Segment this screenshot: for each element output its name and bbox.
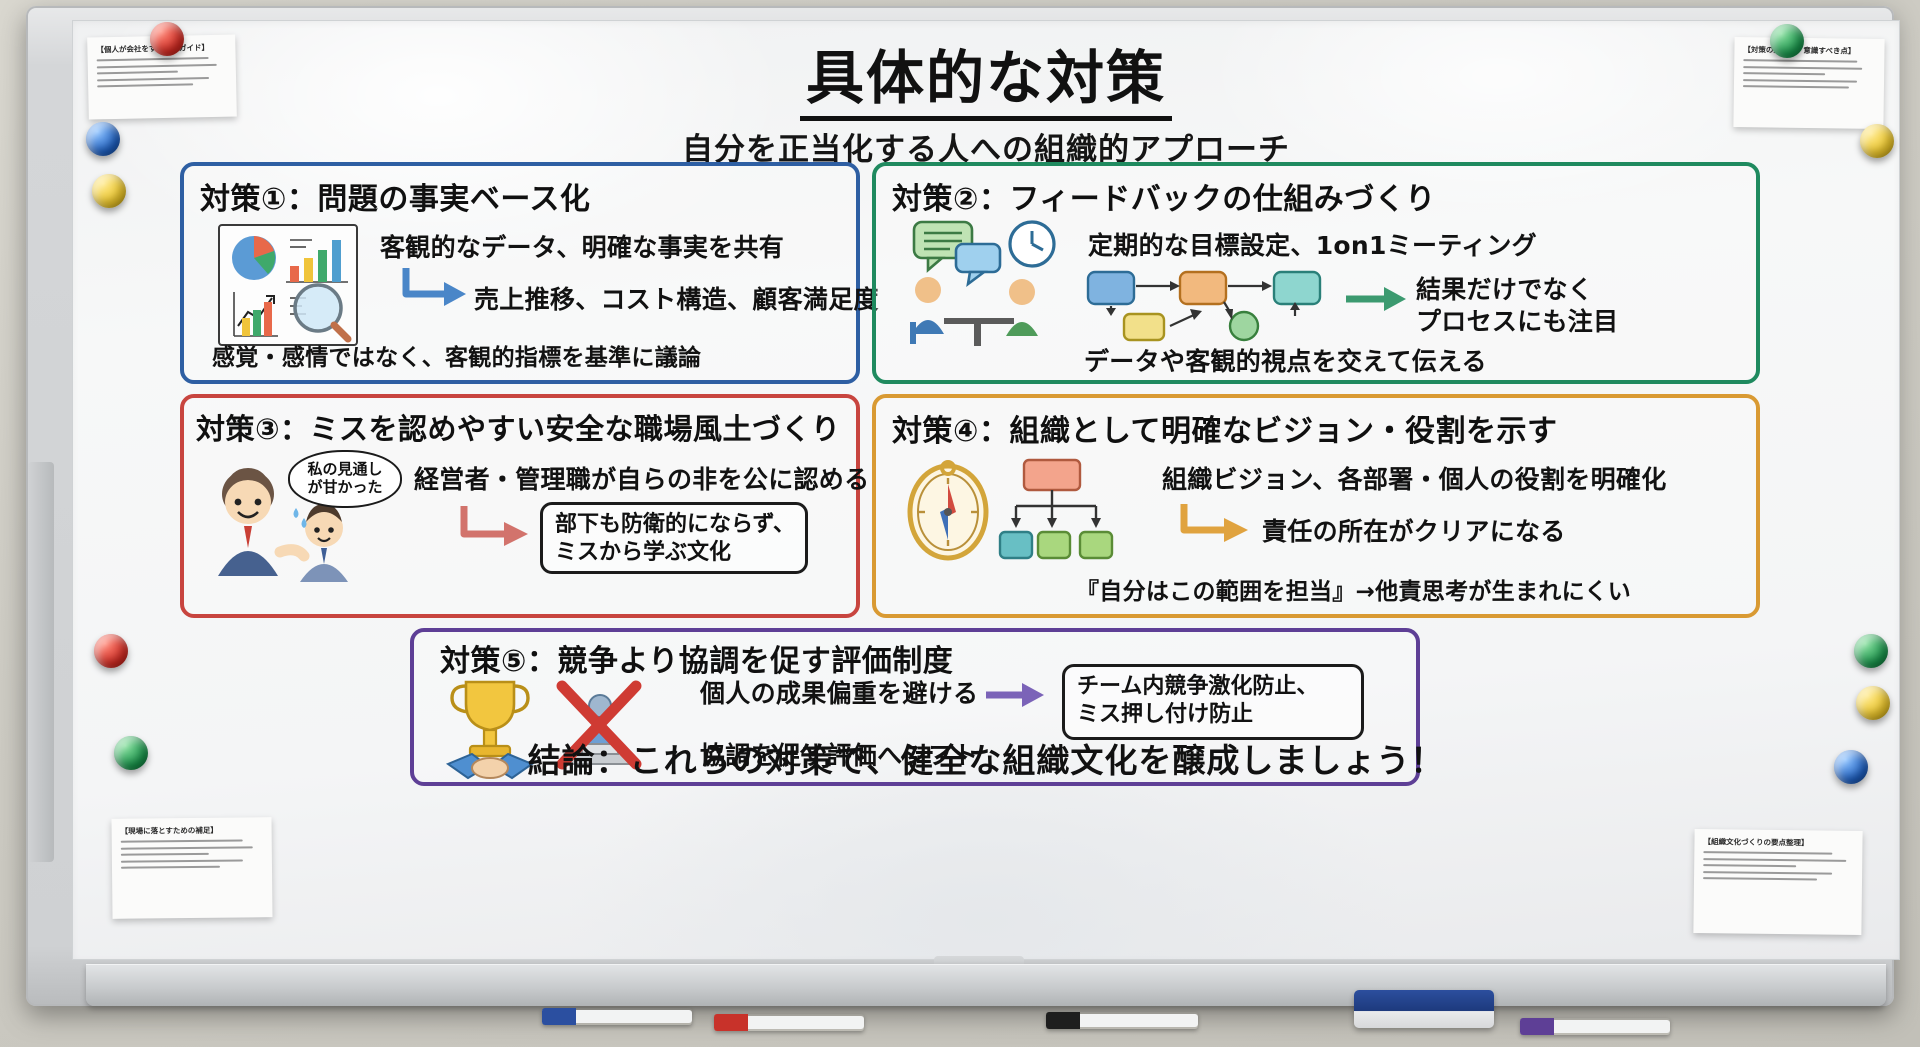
measure-box-2[interactable]: 対策②：フィードバックの仕組みづくり (872, 162, 1760, 384)
red-marker[interactable] (714, 1014, 864, 1031)
note-line (121, 853, 209, 856)
callout-line-2: ミス押し付け防止 (1077, 702, 1253, 727)
measure-3-header: 対策③：ミスを認めやすい安全な職場風土づくり (196, 406, 841, 448)
callout-line-1: チーム内競争激化防止、 (1077, 674, 1318, 699)
magnet-red-bottomleft[interactable] (94, 634, 128, 668)
measure-1-line-1: 客観的なデータ、明確な事実を共有 (380, 228, 784, 264)
page-title-text: 具体的な対策 (800, 44, 1172, 121)
page-title: 具体的な対策 (72, 48, 1900, 109)
process-flow-icon (1084, 266, 1334, 344)
measure-2-header: 対策②：フィードバックの仕組みづくり (892, 174, 1436, 218)
bubble-line-1: 私の見通し (307, 460, 382, 478)
purple-marker[interactable] (1520, 1018, 1670, 1035)
whiteboard-surface: 【個人が会社をする基本ガイド】 【対策の進め方・意識すべき点】 【現場に落とすた… (72, 20, 1900, 960)
measure-4-line-2: 責任の所在がクリアになる (1262, 512, 1566, 548)
whiteboard-scene: 【個人が会社をする基本ガイド】 【対策の進め方・意識すべき点】 【現場に落とすた… (0, 0, 1920, 1047)
elbow-arrow-red (456, 502, 532, 556)
measure-2-line-4: データや客観的視点を交えて伝える (1084, 342, 1487, 378)
right-arrow-green (1344, 284, 1408, 314)
note-line (121, 846, 253, 849)
measure-1-line-2: 売上推移、コスト構造、顧客満足度 (474, 280, 879, 316)
note-line (1703, 864, 1796, 867)
chart-analysis-icon (218, 224, 358, 346)
measure-4-line-1: 組織ビジョン、各部署・個人の役割を明確化 (1162, 460, 1667, 496)
callout-line-2: ミスから学ぶ文化 (555, 540, 731, 565)
right-arrow-purple (984, 680, 1046, 710)
measure-2-line-1: 定期的な目標設定、1on1ミーティング (1088, 226, 1537, 262)
elbow-arrow-blue (398, 264, 470, 314)
bubble-line-2: が甘かった (307, 478, 382, 496)
measure-5-callout: チーム内競争激化防止、 ミス押し付け防止 (1062, 664, 1364, 740)
note-line (1703, 877, 1817, 880)
note-bottom-right: 【組織文化づくりの要点整理】 (1693, 829, 1862, 935)
note-title: 【組織文化づくりの要点整理】 (1703, 837, 1853, 848)
measure-3-line-1: 経営者・管理職が自らの非を公に認める (414, 460, 869, 496)
measure-box-3[interactable]: 対策③：ミスを認めやすい安全な職場風土づくり (180, 394, 860, 618)
manager-speech-bubble: 私の見通し が甘かった (288, 450, 402, 508)
meeting-conversation-icon (898, 218, 1074, 346)
magnet-green-bottomright[interactable] (1854, 634, 1888, 668)
measure-4-line-3: 『自分はこの範囲を担当』→他責思考が生まれにくい (1076, 572, 1631, 606)
note-title: 【現場に落とすための補足】 (121, 825, 263, 836)
whiteboard-frame: 【個人が会社をする基本ガイド】 【対策の進め方・意識すべき点】 【現場に落とすた… (26, 6, 1894, 1006)
note-line (121, 859, 243, 862)
whiteboard-eraser[interactable] (1354, 990, 1494, 1028)
measure-2-line-3: プロセスにも注目 (1416, 302, 1618, 338)
black-marker[interactable] (1046, 1012, 1198, 1029)
conclusion-text: 結論：これらの対策で、健全な組織文化を醸成しましょう！ (72, 734, 1900, 782)
measure-1-header: 対策①：問題の事実ベース化 (200, 174, 590, 218)
measure-2-line-2: 結果だけでなく (1416, 270, 1593, 306)
measure-3-callout: 部下も防衛的にならず、 ミスから学ぶ文化 (540, 502, 808, 574)
measure-box-1[interactable]: 対策①：問題の事実ベース化 (180, 162, 860, 384)
board-bracket-left (28, 462, 54, 862)
callout-line-1: 部下も防衛的にならず、 (555, 512, 795, 537)
measure-4-header: 対策④：組織として明確なビジョン・役割を示す (892, 406, 1558, 450)
measure-1-line-3: 感覚・感情ではなく、客観的指標を基準に議論 (212, 338, 701, 372)
compass-orgchart-icon (900, 454, 1140, 572)
note-line (1703, 871, 1832, 875)
magnet-yellow-left[interactable] (92, 174, 126, 208)
measure-box-4[interactable]: 対策④：組織として明確なビジョン・役割を示す (872, 394, 1760, 618)
magnet-yellow-bottomright[interactable] (1856, 686, 1890, 720)
note-line (1703, 851, 1832, 855)
measure-5-line-1: 個人の成果偏重を避ける (700, 674, 978, 710)
note-line (1703, 858, 1846, 862)
elbow-arrow-orange (1176, 500, 1252, 552)
marker-tray (86, 964, 1886, 1006)
blue-marker[interactable] (542, 1008, 692, 1025)
note-line (121, 839, 243, 842)
note-bottom-left: 【現場に落とすための補足】 (111, 817, 272, 919)
note-line (121, 866, 220, 869)
